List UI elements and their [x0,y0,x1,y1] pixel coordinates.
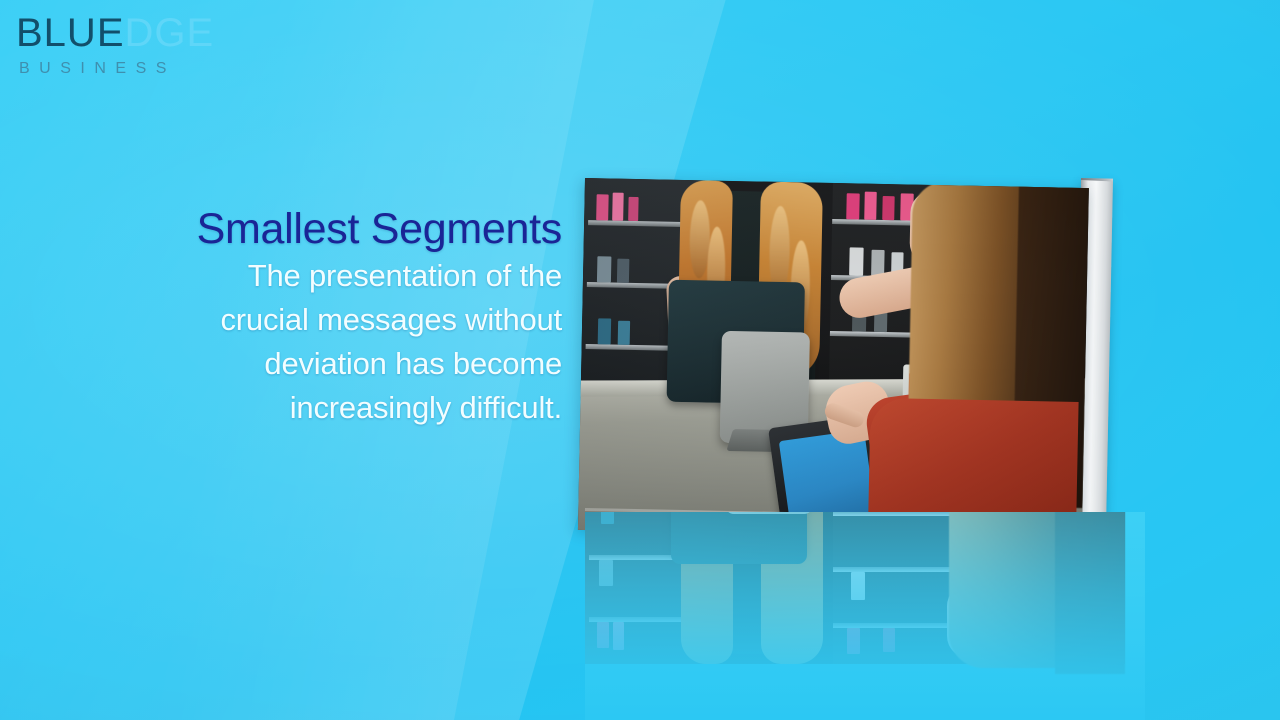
slide-headline: Smallest Segments [96,206,562,252]
photo-tone-overlay [578,178,1089,540]
photo-panel [585,178,1125,538]
photo-panel-reflection [585,512,1145,720]
reflection-tint [585,512,1145,720]
logo-word-blue: BLUE [16,11,125,55]
logo-subtitle: BUSINESS [19,60,214,78]
logo-wordmark: BLUEDGE [16,12,214,54]
body-line-2: crucial messages without [96,298,562,342]
photo-panel-face [578,178,1089,540]
body-line-1: The presentation of the [96,254,562,298]
reflection-fade-mask [585,512,1145,720]
body-line-3: deviation has become [96,342,562,386]
body-line-4: increasingly difficult. [96,386,562,430]
slide-body-text: The presentation of the crucial messages… [96,254,562,430]
brand-logo[interactable]: BLUEDGE BUSINESS [16,12,214,78]
retail-checkout-photo [578,178,1089,540]
logo-word-edge: DGE [125,11,215,55]
slide-stage: BLUEDGE BUSINESS Smallest Segments The p… [0,0,1280,720]
slide-copy-block: Smallest Segments The presentation of th… [96,206,562,430]
